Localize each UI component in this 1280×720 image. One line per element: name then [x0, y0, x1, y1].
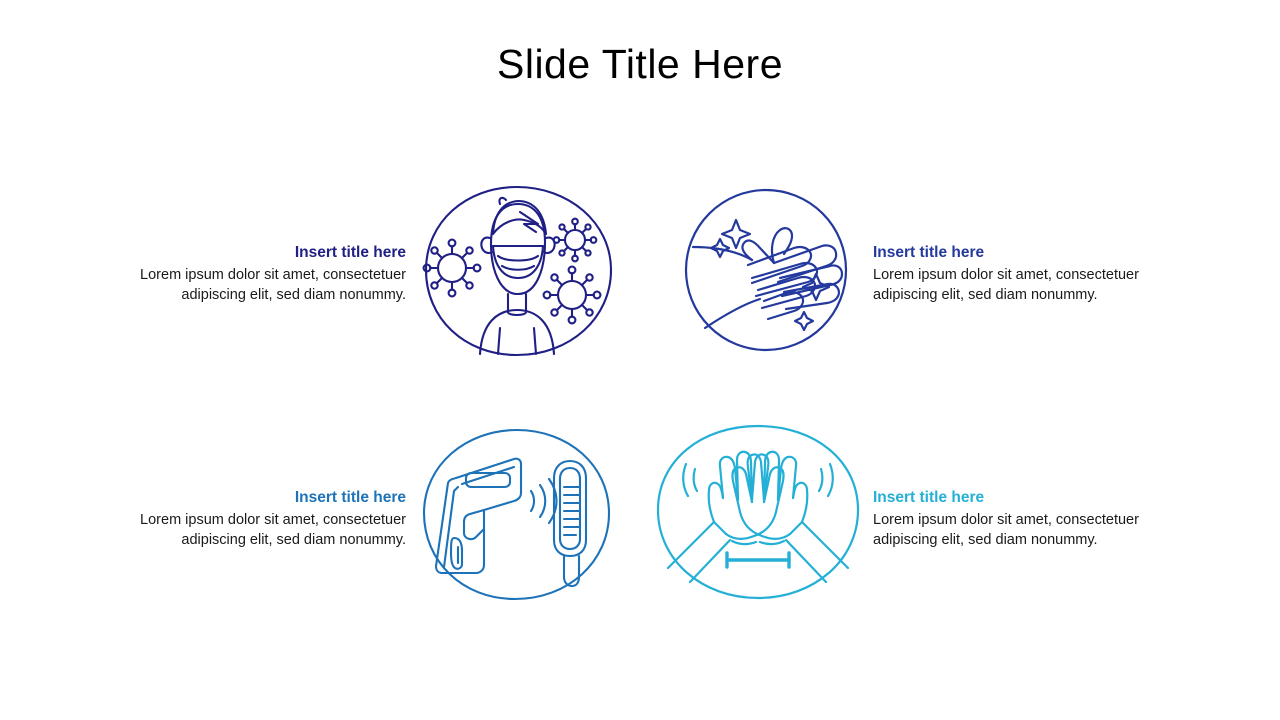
masked-person-with-viruses-icon	[420, 182, 616, 362]
item-body-bottom-right: Lorem ipsum dolor sit amet, consectetuer…	[873, 511, 1173, 549]
page-title: Slide Title Here	[0, 42, 1280, 87]
item-body-top-left: Lorem ipsum dolor sit amet, consectetuer…	[106, 266, 406, 304]
item-text-top-right: Insert title here Lorem ipsum dolor sit …	[873, 243, 1173, 305]
item-title-bottom-left: Insert title here	[106, 488, 406, 507]
item-body-bottom-left: Lorem ipsum dolor sit amet, consectetuer…	[106, 511, 406, 549]
hand-washing-icon	[682, 186, 850, 354]
item-title-top-right: Insert title here	[873, 243, 1173, 262]
item-text-bottom-left: Insert title here Lorem ipsum dolor sit …	[106, 488, 406, 550]
infrared-thermometer-icon	[418, 425, 614, 605]
item-title-top-left: Insert title here	[106, 243, 406, 262]
social-distancing-hands-icon	[652, 422, 864, 604]
item-title-bottom-right: Insert title here	[873, 488, 1173, 507]
item-body-top-right: Lorem ipsum dolor sit amet, consectetuer…	[873, 266, 1173, 304]
item-text-bottom-right: Insert title here Lorem ipsum dolor sit …	[873, 488, 1173, 550]
item-text-top-left: Insert title here Lorem ipsum dolor sit …	[106, 243, 406, 305]
